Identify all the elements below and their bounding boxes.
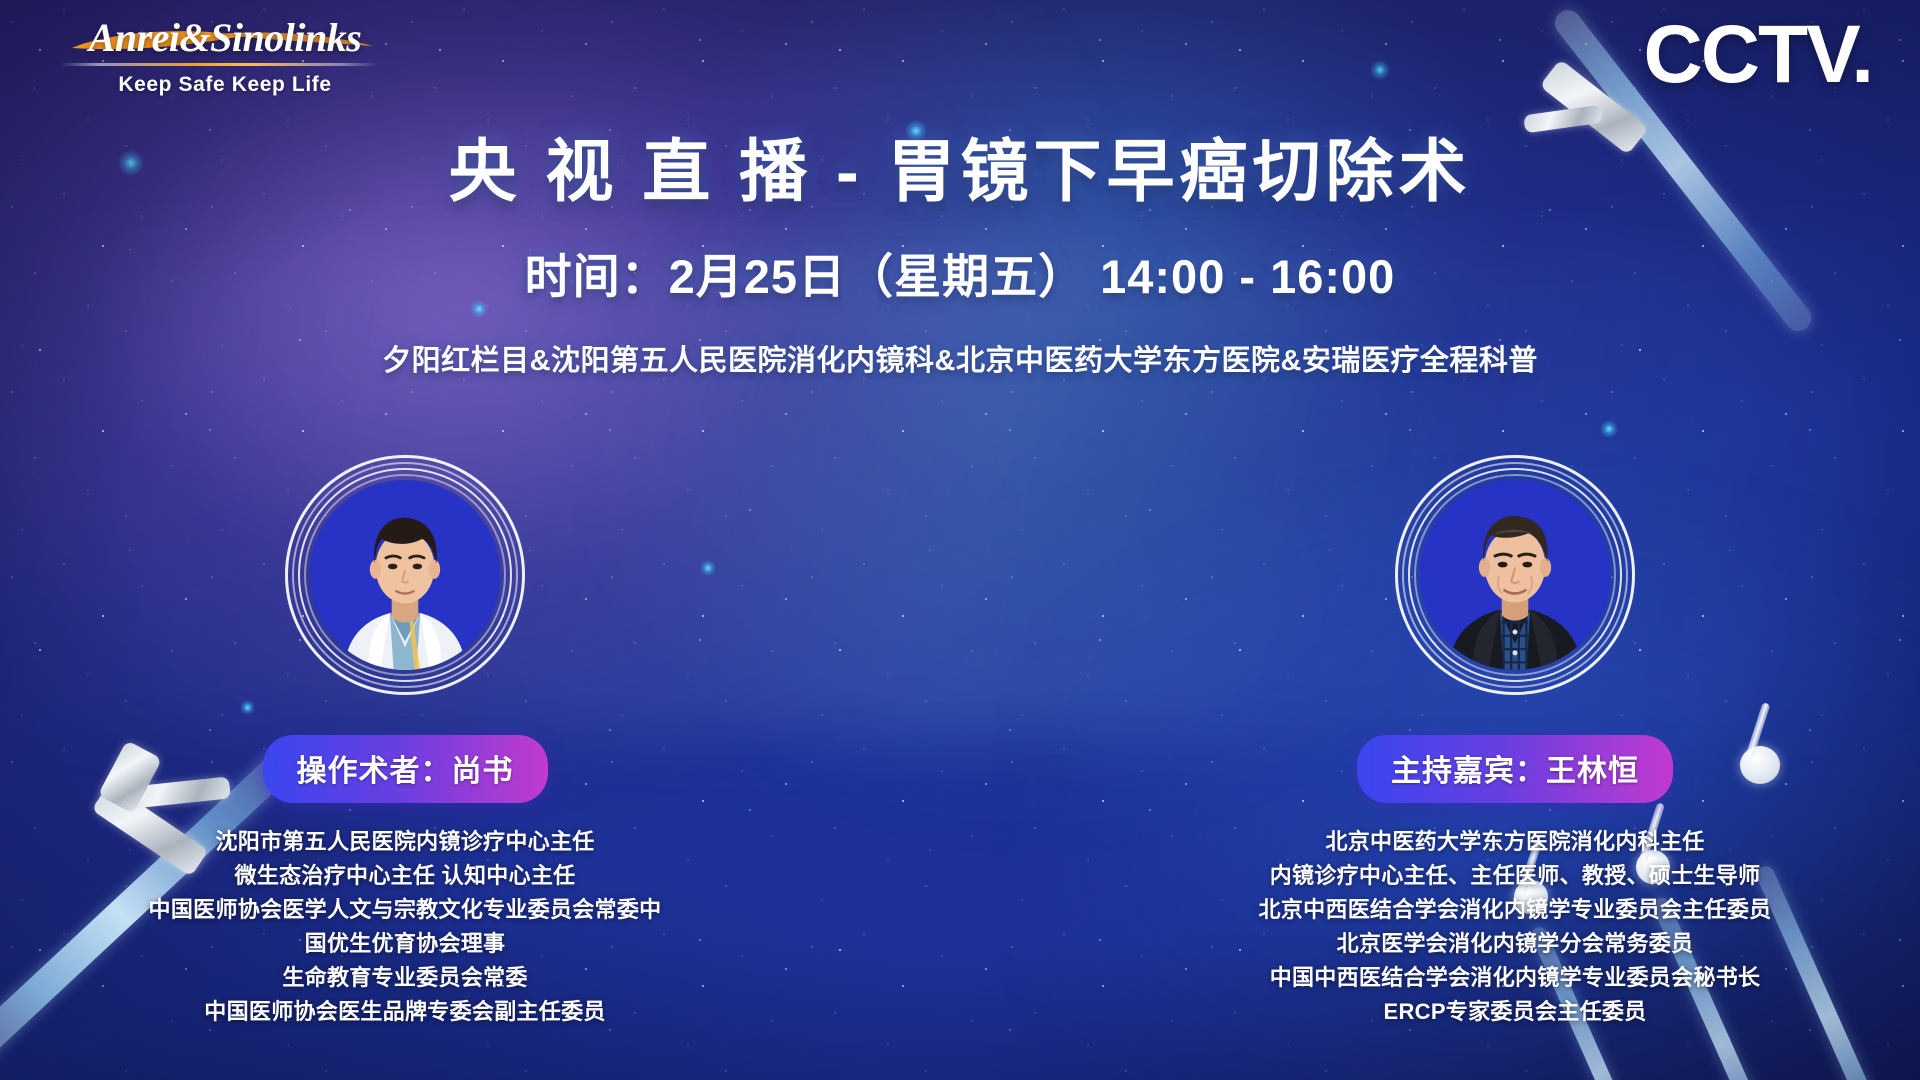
portrait-illustration-icon [1420,480,1610,670]
credentials-list-host: 北京中医药大学东方医院消化内科主任 内镜诊疗中心主任、主任医师、教授、硕士生导师… [1205,825,1825,1030]
anrei-sinolinks-logo: Anrei&Sinolinks Keep Safe Keep Life [60,18,390,97]
speaker-card-operator: 操作术者：尚书 沈阳市第五人民医院内镜诊疗中心主任 微生态治疗中心主任 认知中心… [95,455,715,1030]
headline-block: 央 视 直 播 - 胃镜下早癌切除术 时间：2月25日（星期五） 14:00 -… [0,135,1920,379]
credential-item: 微生态治疗中心主任 认知中心主任 [95,859,715,893]
speaker-photo-host [1420,480,1610,670]
speakers-section: 操作术者：尚书 沈阳市第五人民医院内镜诊疗中心主任 微生态治疗中心主任 认知中心… [0,455,1920,1030]
credential-item: 生命教育专业委员会常委 [95,961,715,995]
anrei-tagline: Keep Safe Keep Life [60,73,390,97]
portrait-illustration-icon [310,480,500,670]
credential-item: 北京医学会消化内镜学分会常务委员 [1205,927,1825,961]
speaker-name-badge-operator: 操作术者：尚书 [263,735,548,803]
anrei-brand-text: Anrei&Sinolinks [60,18,390,58]
credential-item: 北京中西医结合学会消化内镜学专业委员会主任委员 [1205,893,1825,927]
logo-divider [60,63,378,66]
credential-item: 沈阳市第五人民医院内镜诊疗中心主任 [95,825,715,859]
organizers-line: 夕阳红栏目&沈阳第五人民医院消化内镜科&北京中医药大学东方医院&安瑞医疗全程科普 [0,337,1920,379]
cctv-logo: CCTV. [1644,14,1872,96]
credential-item: 北京中医药大学东方医院消化内科主任 [1205,825,1825,859]
speaker-card-host: 主持嘉宾：王林恒 北京中医药大学东方医院消化内科主任 内镜诊疗中心主任、主任医师… [1205,455,1825,1030]
page-title: 央 视 直 播 - 胃镜下早癌切除术 [0,135,1920,210]
device-clip-jaw [1523,105,1603,134]
credential-item: 中国医师协会医学人文与宗教文化专业委员会常委中 [95,893,715,927]
event-time: 时间：2月25日（星期五） 14:00 - 16:00 [0,238,1920,307]
credential-item: 中国医师协会医生品牌专委会副主任委员 [95,995,715,1029]
credentials-list-operator: 沈阳市第五人民医院内镜诊疗中心主任 微生态治疗中心主任 认知中心主任 中国医师协… [95,825,715,1030]
credential-item: 内镜诊疗中心主任、主任医师、教授、硕士生导师 [1205,859,1825,893]
avatar [285,455,525,695]
speaker-photo-operator [310,480,500,670]
credential-item: 国优生优育协会理事 [95,927,715,961]
credential-item: 中国中西医结合学会消化内镜学专业委员会秘书长 [1205,961,1825,995]
credential-item: ERCP专家委员会主任委员 [1205,995,1825,1029]
avatar [1395,455,1635,695]
speaker-name-badge-host: 主持嘉宾：王林恒 [1357,735,1673,803]
